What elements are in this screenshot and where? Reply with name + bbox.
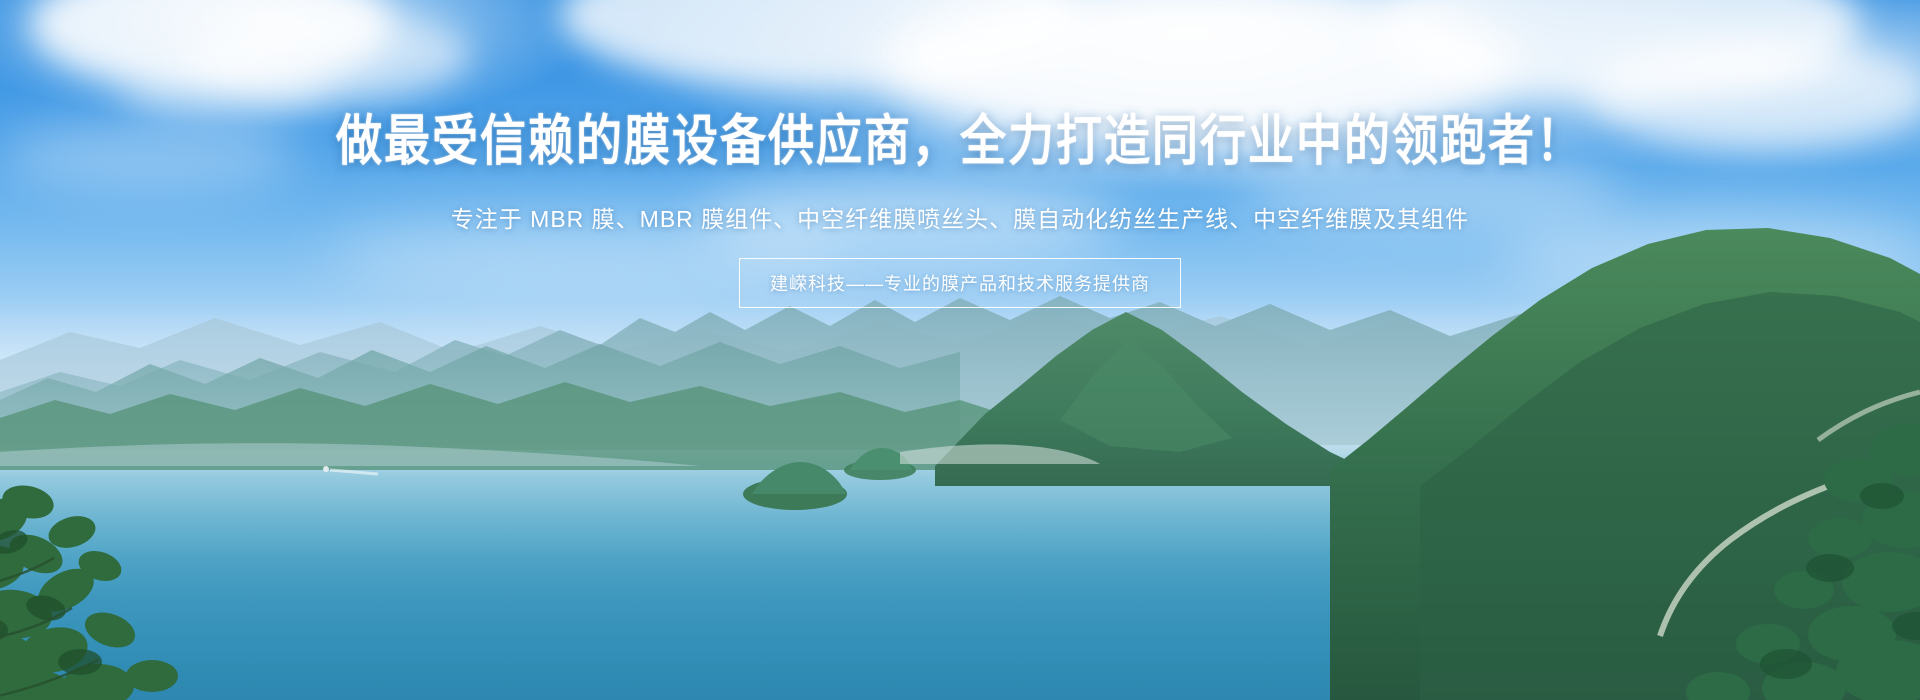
tagline-button[interactable]: 建嵘科技——专业的膜产品和技术服务提供商 — [739, 258, 1181, 308]
hero-banner: 做最受信赖的膜设备供应商，全力打造同行业中的领跑者！ 专注于 MBR 膜、MBR… — [0, 0, 1920, 700]
foliage-left — [0, 480, 220, 700]
boat — [323, 466, 329, 472]
foliage-right — [1590, 410, 1920, 700]
boat-wake — [330, 470, 378, 474]
